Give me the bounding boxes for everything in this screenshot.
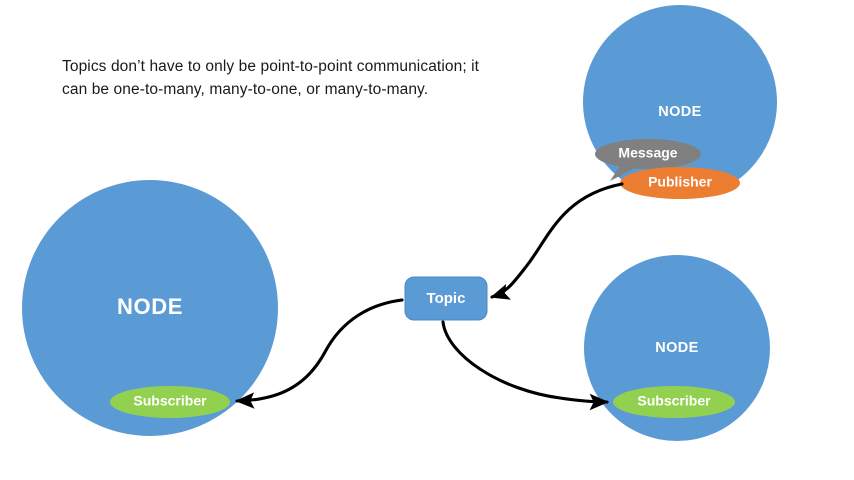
arrow-publisher-to-topic <box>492 184 622 297</box>
publisher-pill[interactable]: Publisher <box>620 167 740 199</box>
topic-label: Topic <box>427 290 466 307</box>
diagram-canvas: NODE NODE NODE Message Publisher Subscri… <box>0 0 854 480</box>
topic-box[interactable]: Topic <box>405 277 487 320</box>
node-label-bottom-right: NODE <box>655 340 699 356</box>
node-label-top-right: NODE <box>658 104 702 120</box>
subscriber-pill-bottom-right[interactable]: Subscriber <box>613 386 735 418</box>
publisher-label: Publisher <box>648 174 712 190</box>
arrow-topic-to-subscriber-bottom-right <box>443 322 607 402</box>
subscriber-label-left: Subscriber <box>133 393 207 409</box>
slide-canvas: Topics don’t have to only be point-to-po… <box>0 0 854 480</box>
node-label-left: NODE <box>117 294 183 319</box>
subscriber-label-bottom-right: Subscriber <box>637 393 711 409</box>
subscriber-pill-left[interactable]: Subscriber <box>110 386 230 418</box>
message-label: Message <box>618 145 677 161</box>
